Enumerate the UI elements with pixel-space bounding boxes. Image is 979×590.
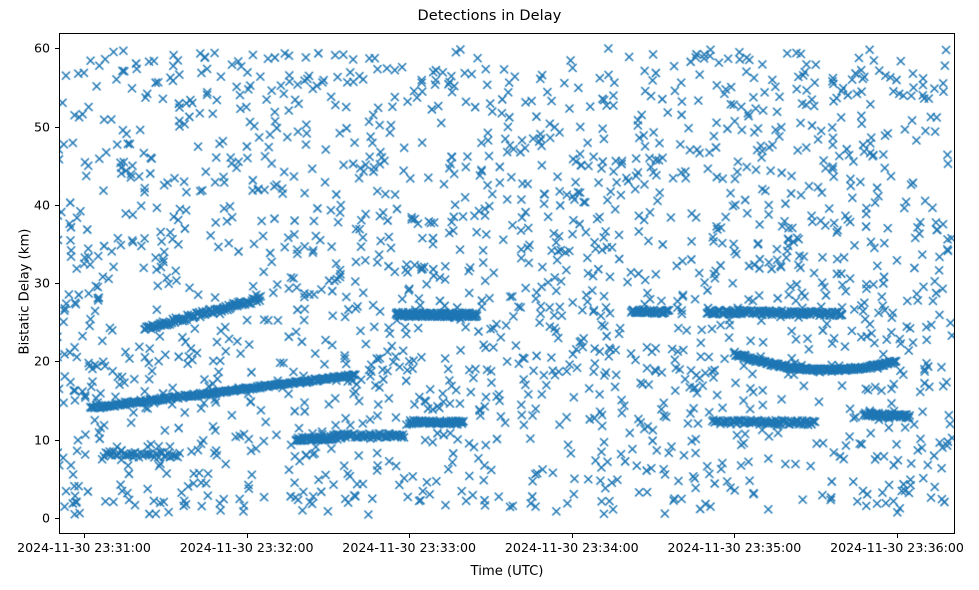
y-tick-mark <box>55 440 59 441</box>
chart-title: Detections in Delay <box>0 8 979 24</box>
matplotlib-figure: Detections in Delay 0102030405060 2024-1… <box>0 0 979 590</box>
x-tick-mark <box>897 534 898 538</box>
x-tick-mark <box>84 534 85 538</box>
x-tick-label: 2024-11-30 23:35:00 <box>668 540 802 555</box>
plot-axes-area <box>59 33 955 534</box>
y-tick-mark <box>55 518 59 519</box>
y-tick-label: 60 <box>0 41 50 56</box>
x-tick-label: 2024-11-30 23:32:00 <box>180 540 314 555</box>
x-tick-mark <box>409 534 410 538</box>
x-tick-label: 2024-11-30 23:34:00 <box>505 540 639 555</box>
x-tick-mark <box>572 534 573 538</box>
x-tick-label: 2024-11-30 23:36:00 <box>830 540 964 555</box>
x-tick-label: 2024-11-30 23:31:00 <box>17 540 151 555</box>
y-tick-mark <box>55 205 59 206</box>
scatter-plot-canvas <box>60 34 954 533</box>
y-axis-label: Bistatic Delay (km) <box>18 162 33 422</box>
y-tick-mark <box>55 48 59 49</box>
y-tick-label: 50 <box>0 119 50 134</box>
x-tick-label: 2024-11-30 23:33:00 <box>342 540 476 555</box>
y-tick-label: 10 <box>0 432 50 447</box>
y-tick-mark <box>55 127 59 128</box>
y-tick-mark <box>55 283 59 284</box>
x-tick-mark <box>247 534 248 538</box>
x-axis-label: Time (UTC) <box>59 564 955 579</box>
y-tick-label: 0 <box>0 511 50 526</box>
x-tick-mark <box>734 534 735 538</box>
y-tick-mark <box>55 361 59 362</box>
